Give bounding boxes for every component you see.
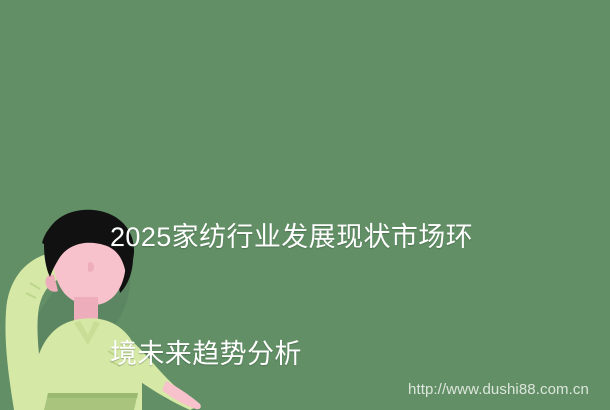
poster-canvas: 2025家纺行业发展现状市场环 境未来趋势分析 http://www.dushi…	[0, 0, 610, 410]
title-line-2: 境未来趋势分析	[110, 335, 530, 374]
title-line-1: 2025家纺行业发展现状市场环	[110, 218, 530, 257]
source-watermark: http://www.dushi88.com.cn	[408, 381, 589, 399]
poster-title: 2025家纺行业发展现状市场环 境未来趋势分析	[110, 140, 530, 410]
